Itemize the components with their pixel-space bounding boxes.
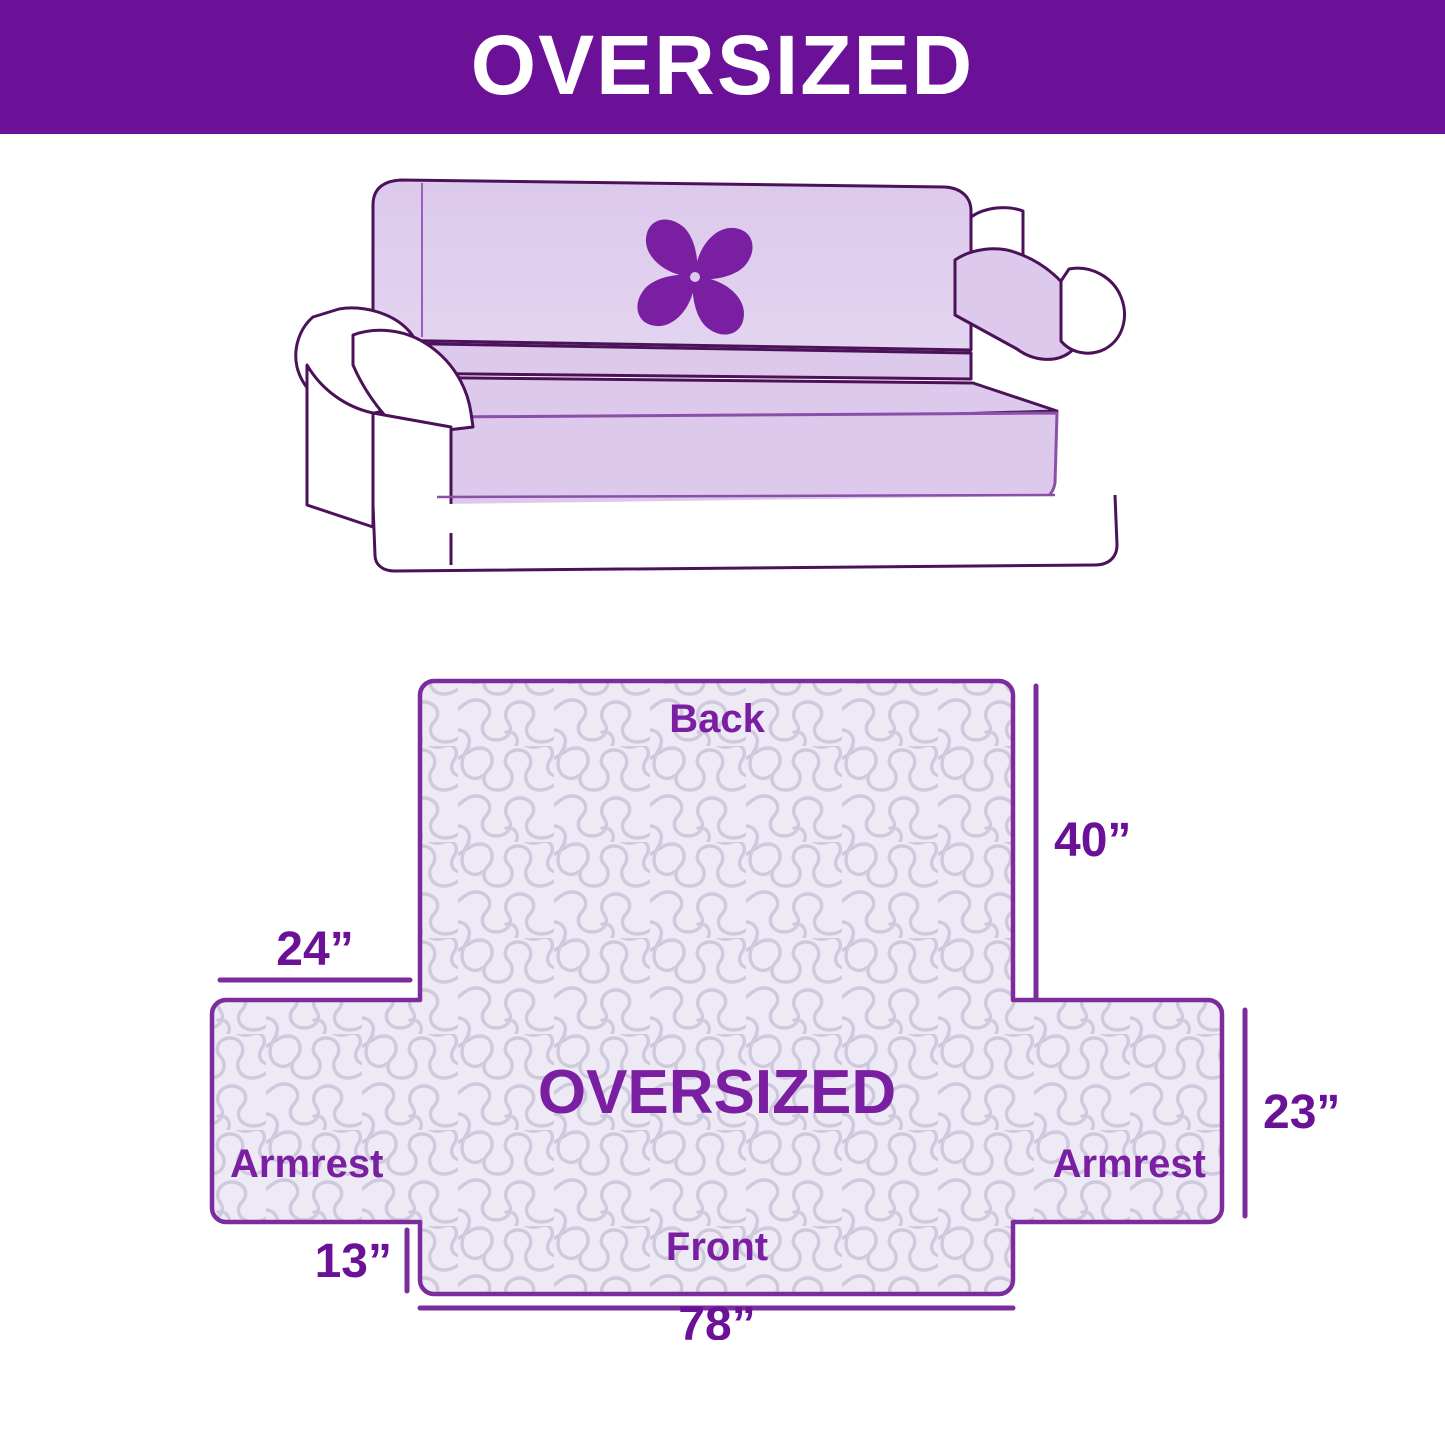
header-banner: OVERSIZED xyxy=(0,0,1445,134)
sofa-seat-skirt xyxy=(437,413,1057,507)
sofa-base-front xyxy=(373,495,1117,571)
dim-value-armrest-top: 24” xyxy=(276,923,353,976)
dim-value-armrest-height: 23” xyxy=(1263,1086,1340,1139)
label-armrest-right: Armrest xyxy=(1053,1142,1206,1186)
sofa-svg xyxy=(255,165,1205,625)
dim-value-back-height: 40” xyxy=(1054,814,1131,867)
cover-outline xyxy=(212,681,1222,1294)
label-armrest-left: Armrest xyxy=(230,1142,383,1186)
sofa-illustration xyxy=(255,165,1205,625)
sofa-body xyxy=(296,180,1125,571)
sofa-right-arm-face xyxy=(1061,268,1124,353)
dim-value-front-height: 13” xyxy=(315,1235,392,1288)
dim-value-front-width: 78” xyxy=(678,1298,755,1340)
label-back: Back xyxy=(669,697,765,741)
page-title: OVERSIZED xyxy=(471,23,974,107)
diagram-center-label: OVERSIZED xyxy=(538,1058,896,1127)
diagram-svg: Back Front Armrest Armrest OVERSIZED 40”… xyxy=(170,650,1380,1340)
cover-dimension-diagram: Back Front Armrest Armrest OVERSIZED 40”… xyxy=(170,650,1380,1340)
label-front: Front xyxy=(666,1225,768,1269)
cover-silhouette xyxy=(212,681,1222,1294)
